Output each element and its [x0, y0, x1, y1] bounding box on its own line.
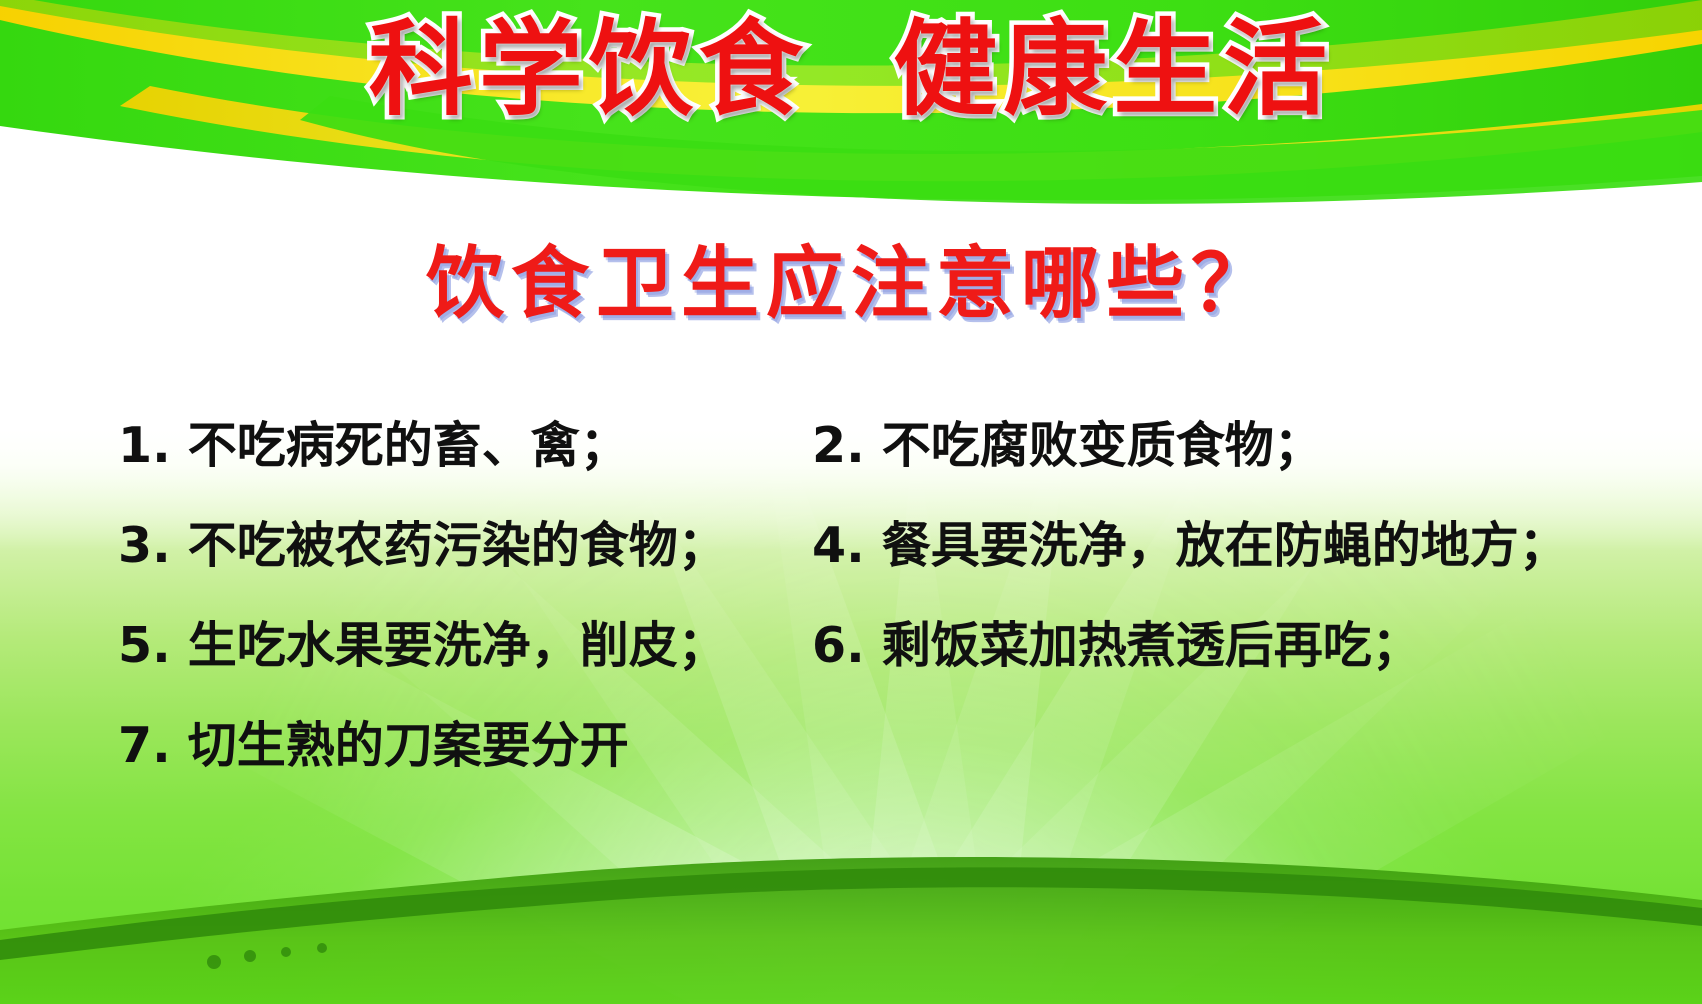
section-heading: 饮食卫生应注意哪些？	[0, 236, 1702, 332]
list-item: 2. 不吃腐败变质食物；	[812, 398, 1323, 494]
list-row: 5. 生吃水果要洗净，削皮； 6. 剩饭菜加热煮透后再吃；	[0, 598, 1702, 694]
list-item: 5. 生吃水果要洗净，削皮；	[118, 598, 727, 694]
list-item: 3. 不吃被农药污染的食物；	[118, 498, 727, 594]
list-row: 7. 切生熟的刀案要分开	[0, 698, 1702, 794]
page-title: 科学饮食 健康生活	[0, 10, 1702, 128]
list-item: 7. 切生熟的刀案要分开	[118, 698, 629, 794]
bottom-arc-decoration	[0, 804, 1702, 1004]
list-item: 6. 剩饭菜加热煮透后再吃；	[812, 598, 1421, 694]
poster-canvas: 科学饮食 健康生活 饮食卫生应注意哪些？ 1. 不吃病死的畜、禽； 2. 不吃腐…	[0, 0, 1702, 1004]
list-row: 1. 不吃病死的畜、禽； 2. 不吃腐败变质食物；	[0, 398, 1702, 494]
list-row: 3. 不吃被农药污染的食物； 4. 餐具要洗净，放在防蝇的地方；	[0, 498, 1702, 594]
tips-list: 1. 不吃病死的畜、禽； 2. 不吃腐败变质食物； 3. 不吃被农药污染的食物；…	[0, 398, 1702, 818]
list-item: 1. 不吃病死的畜、禽；	[118, 398, 629, 494]
list-item: 4. 餐具要洗净，放在防蝇的地方；	[812, 498, 1568, 594]
